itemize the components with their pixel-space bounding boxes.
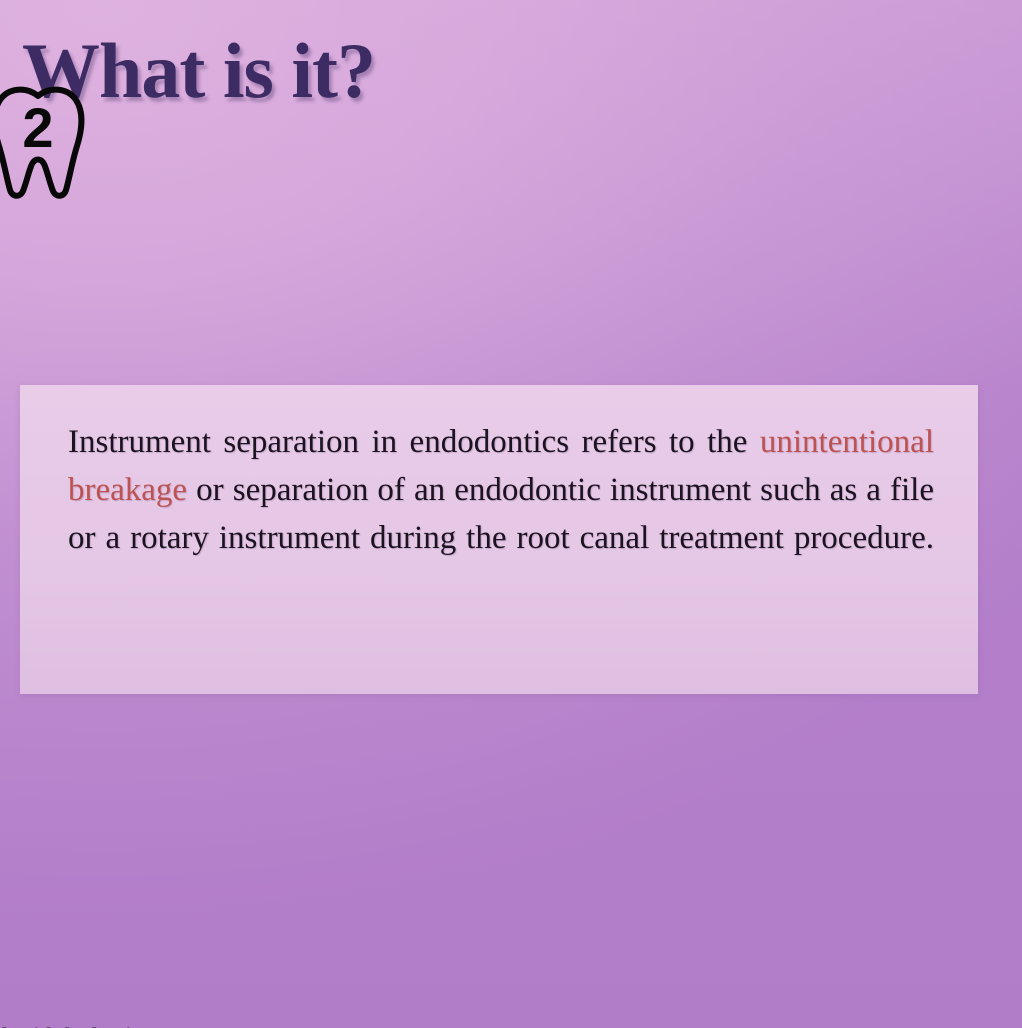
page-title: What is it? xyxy=(22,32,1022,110)
definition-panel: Instrument separation in endodontics ref… xyxy=(20,385,978,694)
definition-part1: Instrument separation in endodontics ref… xyxy=(68,424,760,460)
slide-canvas: What is it? 2 Instrument separation in e… xyxy=(0,0,1022,1028)
tooth-slide-number-badge: 2 xyxy=(0,84,94,202)
definition-text: Instrument separation in endodontics ref… xyxy=(68,419,934,610)
account-handle: @Studywiththedentist xyxy=(0,1023,968,1028)
slide-number-text: 2 xyxy=(0,100,94,156)
definition-part2: or separation of an endodontic instrumen… xyxy=(68,472,934,556)
